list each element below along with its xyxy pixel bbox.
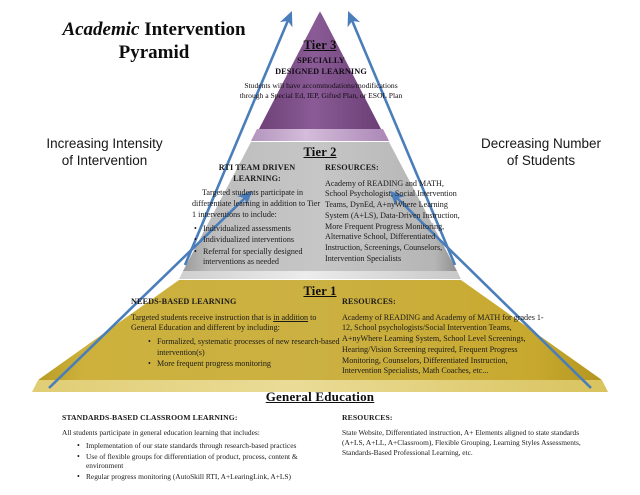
list-item: Formalized, systematic processes of new … [157,337,343,358]
tier2-left-body: Targeted students participate in differe… [192,188,322,267]
left-axis-label: Increasing Intensity of Intervention [22,136,187,170]
list-item: More frequent progress monitoring [157,359,343,370]
tier2-left-heading-line1: RTI TEAM DRIVEN [219,163,296,172]
tier3-body: Students will have accommodations/modifi… [232,81,410,101]
general-education-left-column: STANDARDS-BASED CLASSROOM LEARNING: All … [62,413,332,482]
tier1-left-intro-a: Targeted students receive instruction th… [131,313,273,322]
list-item: Individualized interventions [203,235,322,246]
tier2-base-band [179,271,461,279]
tier2-left-heading: RTI TEAM DRIVEN LEARNING: [192,163,322,184]
tier1-right-column: RESOURCES: Academy of READING and Academ… [342,297,547,377]
ge-left-bullets: Implementation of our state standards th… [62,441,332,482]
tier2-left-intro: Targeted students participate in differe… [192,188,322,220]
tier2-left-bullets: Individualized assessments Individualize… [192,224,322,268]
list-item: Regular progress monitoring (AutoSkill R… [86,472,332,482]
list-item: Individualized assessments [203,224,322,235]
tier3-heading-line1: SPECIALLY [297,56,345,65]
tier1-left-body: Targeted students receive instruction th… [131,313,343,370]
tier2-left-heading-line2: LEARNING: [233,174,281,183]
right-axis-label-line2: of Students [507,153,575,168]
tier3-label: Tier 3 [255,38,385,53]
pyramid-infographic: Academic Intervention Pyramid Increasing… [0,0,640,495]
tier1-left-intro-underline: in addition [273,313,308,322]
tier1-left-bullets: Formalized, systematic processes of new … [131,337,343,370]
tier1-resources-body: Academy of READING and Academy of MATH f… [342,313,547,378]
ge-left-intro: All students participate in general educ… [62,428,332,438]
tier1-left-heading: NEEDS-BASED LEARNING [131,297,343,308]
page-title-emphasis: Academic [62,19,139,40]
tier3-base-band [251,129,389,141]
page-title-line2: Pyramid [119,42,190,63]
ge-resources-body: State Website, Differentiated instructio… [342,428,602,458]
right-axis-label: Decreasing Number of Students [456,136,626,170]
tier2-left-column: RTI TEAM DRIVEN LEARNING: Targeted stude… [192,163,322,269]
ge-left-heading: STANDARDS-BASED CLASSROOM LEARNING: [62,413,332,423]
tier2-right-column: RESOURCES: Academy of READING and MATH, … [325,163,465,265]
list-item: Implementation of our state standards th… [86,441,332,451]
left-axis-label-line2: of Intervention [62,153,148,168]
list-item: Referral for specially designed interven… [203,247,322,268]
ge-resources-heading: RESOURCES: [342,413,602,423]
page-title-rest: Intervention [139,19,245,40]
tier1-left-intro: Targeted students receive instruction th… [131,313,343,335]
tier2-resources-heading: RESOURCES: [325,163,465,174]
left-axis-label-line1: Increasing Intensity [46,136,162,151]
tier3-content: SPECIALLY DESIGNED LEARNING Students wil… [232,56,410,101]
tier3-heading: SPECIALLY DESIGNED LEARNING [232,56,410,77]
right-axis-label-line1: Decreasing Number [481,136,601,151]
tier1-left-column: NEEDS-BASED LEARNING Targeted students r… [131,297,343,371]
tier2-resources-body: Academy of READING and MATH, School Psyc… [325,179,465,265]
ge-left-body: All students participate in general educ… [62,428,332,481]
tier3-heading-line2: DESIGNED LEARNING [275,67,367,76]
general-education-right-column: RESOURCES: State Website, Differentiated… [342,413,602,458]
tier1-resources-heading: RESOURCES: [342,297,547,308]
list-item: Use of flexible groups for differentiati… [86,452,332,471]
general-education-label: General Education [220,389,420,405]
tier2-label: Tier 2 [255,145,385,160]
